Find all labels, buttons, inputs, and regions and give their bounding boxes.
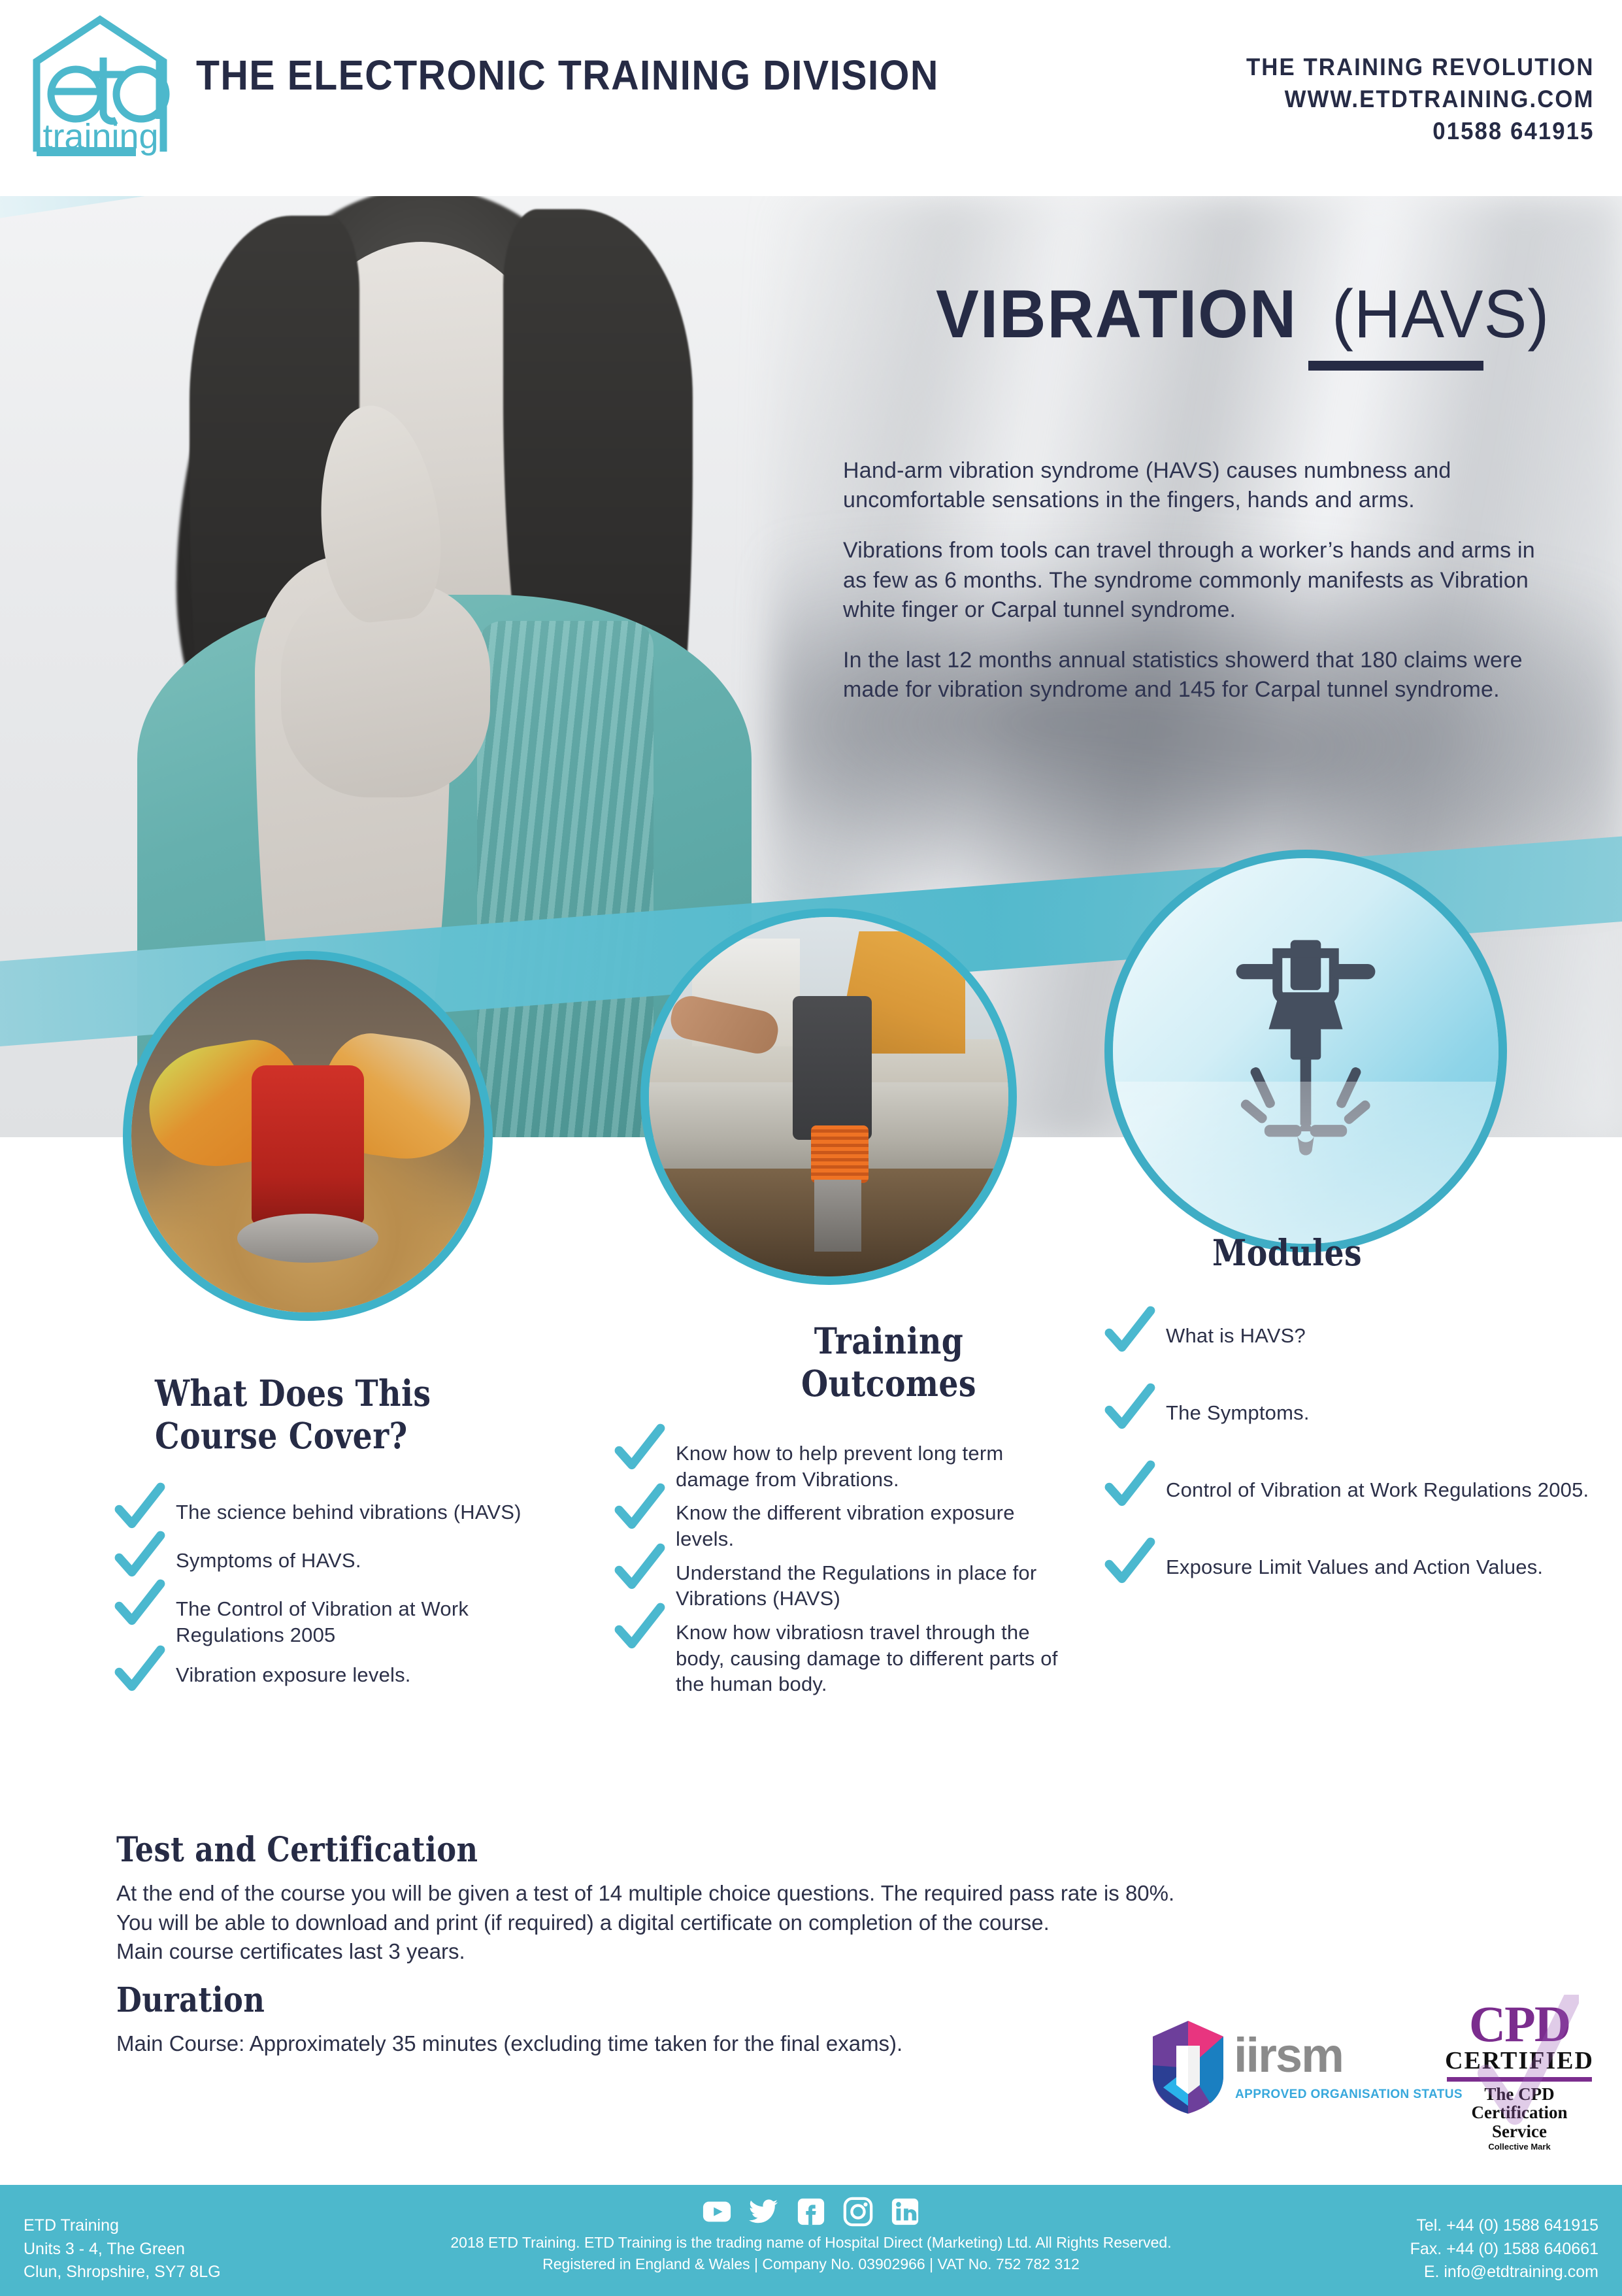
check-icon [614,1483,665,1534]
list-item-label: Know the different vibration exposure le… [676,1497,1072,1552]
linkedin-icon[interactable] [890,2197,920,2227]
certification-logos: iirsm APPROVED ORGANISATION STATUS CPD C… [1150,2000,1608,2157]
header-website[interactable]: WWW.ETDTRAINING.COM [1246,83,1595,115]
svg-text:training: training [42,117,158,156]
footer-address-line3: Clun, Shropshire, SY7 8LG [24,2261,221,2284]
list-item-label: Symptoms of HAVS. [176,1545,361,1574]
title-underline-rule [1308,361,1483,371]
list-item: The science behind vibrations (HAVS) [114,1497,572,1533]
list-item: Exposure Limit Values and Action Values. [1104,1552,1601,1588]
list-item: Control of Vibration at Work Regulations… [1104,1474,1601,1511]
page-header: training THE ELECTRONIC TRAINING DIVISIO… [0,0,1622,196]
list-item: Know how to help prevent long term damag… [614,1438,1072,1492]
test-line-2: You will be able to download and print (… [116,1908,1423,1938]
header-tagline: THE TRAINING REVOLUTION [1246,51,1595,83]
list-item-label: Control of Vibration at Work Regulations… [1166,1474,1589,1503]
brand-line: THE ELECTRONIC TRAINING DIVISION [196,51,939,99]
jackhammer-icon-circle [1104,850,1507,1252]
instagram-icon[interactable] [843,2197,873,2227]
list-item: Vibration exposure levels. [114,1659,572,1696]
check-icon [614,1423,665,1474]
footer-social-links [386,2197,1236,2227]
iirsm-logo: iirsm APPROVED ORGANISATION STATUS [1150,2020,1392,2118]
iirsm-wordmark: iirsm [1234,2031,1343,2080]
list-item: Understand the Regulations in place for … [614,1557,1072,1612]
twitter-icon[interactable] [749,2197,779,2227]
list-item: The Symptoms. [1104,1397,1601,1434]
list-item-label: Know how to help prevent long term damag… [676,1438,1072,1492]
cover-heading-line2: Course Cover? [155,1415,514,1457]
outcomes-section-heading: Training Outcomes [719,1320,1059,1405]
test-heading: Test and Certification [116,1830,1240,1870]
list-item: What is HAVS? [1104,1320,1601,1357]
hero-paragraph-1: Hand-arm vibration syndrome (HAVS) cause… [843,456,1549,515]
flyer-page: training THE ELECTRONIC TRAINING DIVISIO… [0,0,1622,2296]
hero-description: Hand-arm vibration syndrome (HAVS) cause… [843,456,1549,726]
list-item: Know how vibratiosn travel through the b… [614,1617,1072,1697]
footer-fax: Fax. +44 (0) 1588 640661 [1410,2238,1598,2261]
list-item-label: Exposure Limit Values and Action Values. [1166,1552,1543,1580]
list-item-label: Know how vibratiosn travel through the b… [676,1617,1072,1697]
check-icon [1104,1383,1155,1434]
check-icon [1104,1537,1155,1588]
test-line-3: Main course certificates last 3 years. [116,1937,1423,1967]
footer-address-line2: Units 3 - 4, The Green [24,2238,221,2261]
page-title: VIBRATION(HAVS) [936,276,1561,354]
hero-paragraph-2: Vibrations from tools can travel through… [843,536,1549,625]
check-icon [114,1482,165,1533]
test-certification-section: Test and Certification At the end of the… [116,1830,1423,1967]
header-contact: THE TRAINING REVOLUTION WWW.ETDTRAINING.… [1224,51,1595,148]
cover-heading-line1: What Does This [155,1373,514,1415]
footer-center: 2018 ETD Training. ETD Training is the t… [386,2197,1236,2276]
duration-heading: Duration [116,1980,1240,2020]
page-footer: ETD Training Units 3 - 4, The Green Clun… [0,2185,1622,2296]
footer-address-line1: ETD Training [24,2214,221,2238]
photo-circle-tamping-rammer [640,908,1017,1285]
youtube-icon[interactable] [702,2197,732,2227]
list-item-label: Vibration exposure levels. [176,1659,411,1688]
iirsm-shield-icon [1150,2020,1226,2115]
list-item-label: What is HAVS? [1166,1320,1306,1349]
list-item: The Control of Vibration at Work Regulat… [114,1593,572,1648]
modules-section-heading: Modules [1212,1232,1386,1274]
check-icon [614,1543,665,1594]
footer-address: ETD Training Units 3 - 4, The Green Clun… [24,2214,221,2284]
list-item: Symptoms of HAVS. [114,1545,572,1582]
check-icon [114,1531,165,1582]
check-icon [114,1579,165,1630]
outcomes-heading-line2: Outcomes [742,1363,1034,1405]
footer-legal-line1: 2018 ETD Training. ETD Training is the t… [386,2232,1236,2254]
outcomes-heading-line1: Training [742,1320,1034,1363]
cover-section-heading: What Does This Course Cover? [155,1373,573,1457]
check-icon [114,1645,165,1696]
footer-tel[interactable]: Tel. +44 (0) 1588 641915 [1410,2214,1598,2238]
etd-training-logo-icon: training [25,14,175,175]
modules-heading: Modules [1212,1232,1362,1274]
footer-legal-line2: Registered in England & Wales | Company … [386,2254,1236,2275]
list-item-label: The science behind vibrations (HAVS) [176,1497,521,1525]
list-item: Know the different vibration exposure le… [614,1497,1072,1552]
footer-contact: Tel. +44 (0) 1588 641915 Fax. +44 (0) 15… [1410,2214,1598,2284]
iirsm-status-label: APPROVED ORGANISATION STATUS [1235,2088,1463,2102]
list-item-label: The Symptoms. [1166,1397,1310,1426]
cpd-collective-mark: Collective Mark [1438,2142,1601,2152]
modules-items-list: What is HAVS? The Symptoms. Control of V… [1104,1320,1601,1629]
check-icon [1104,1306,1155,1357]
page-title-light: (HAVS) [1332,276,1549,354]
footer-email[interactable]: E. info@etdtraining.com [1410,2261,1598,2284]
check-icon [614,1603,665,1654]
page-title-bold: VIBRATION [936,276,1297,354]
cover-items-list: The science behind vibrations (HAVS) Sym… [114,1497,572,1708]
outcomes-items-list: Know how to help prevent long term damag… [614,1438,1072,1703]
list-item-label: The Control of Vibration at Work Regulat… [176,1593,572,1648]
check-icon [1104,1460,1155,1511]
cpd-certified-logo: CPD CERTIFIED The CPD Certification Serv… [1438,2000,1601,2140]
test-line-1: At the end of the course you will be giv… [116,1879,1423,1908]
hero-paragraph-3: In the last 12 months annual statistics … [843,646,1549,705]
facebook-icon[interactable] [796,2197,826,2227]
list-item-label: Understand the Regulations in place for … [676,1557,1072,1612]
header-phone[interactable]: 01588 641915 [1246,115,1595,147]
photo-circle-orbital-sander [123,951,493,1321]
cpd-tick-icon [1474,1995,1579,2125]
